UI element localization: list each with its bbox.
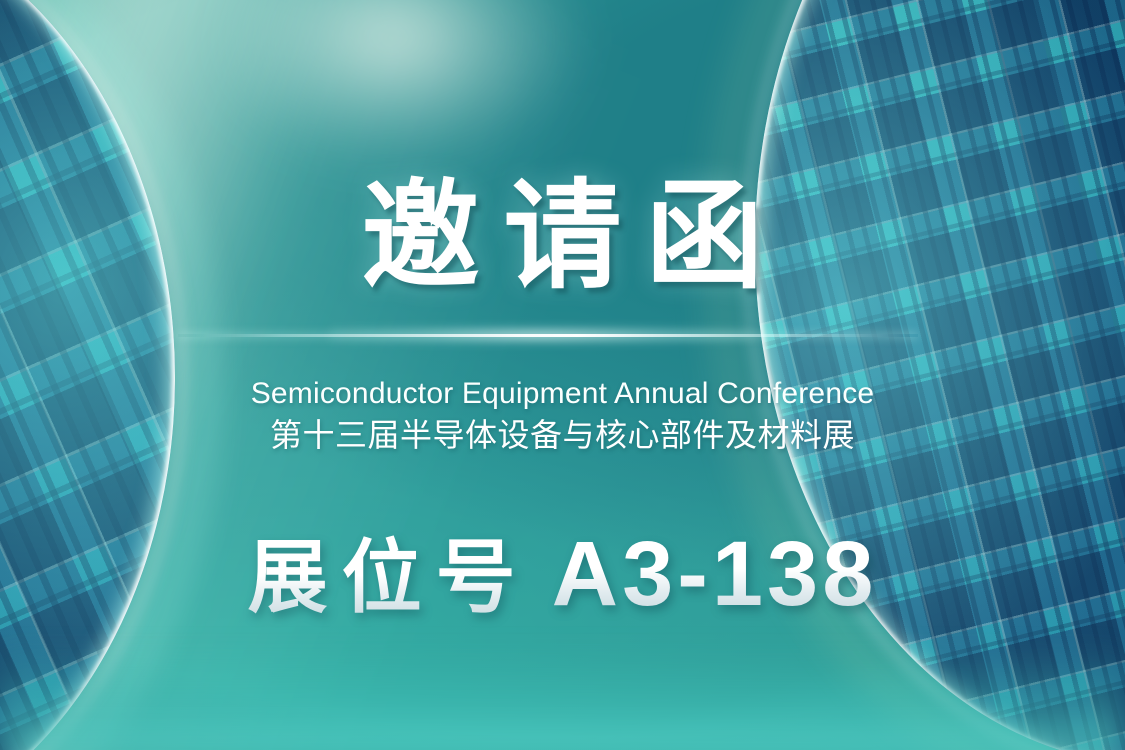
subtitle-english: Semiconductor Equipment Annual Conferenc…: [0, 375, 1125, 413]
poster-content: 邀请函 Semiconductor Equipment Annual Confe…: [0, 0, 1125, 750]
title-divider: [178, 334, 918, 337]
booth-number: A3-138: [552, 523, 878, 625]
booth-label: 展位号: [248, 533, 530, 622]
poster-title: 邀请函: [0, 178, 1125, 296]
subtitle-chinese: 第十三届半导体设备与核心部件及材料展: [0, 414, 1125, 456]
booth-line: 展位号A3-138: [0, 520, 1125, 632]
invitation-poster: 邀请函 Semiconductor Equipment Annual Confe…: [0, 0, 1125, 750]
